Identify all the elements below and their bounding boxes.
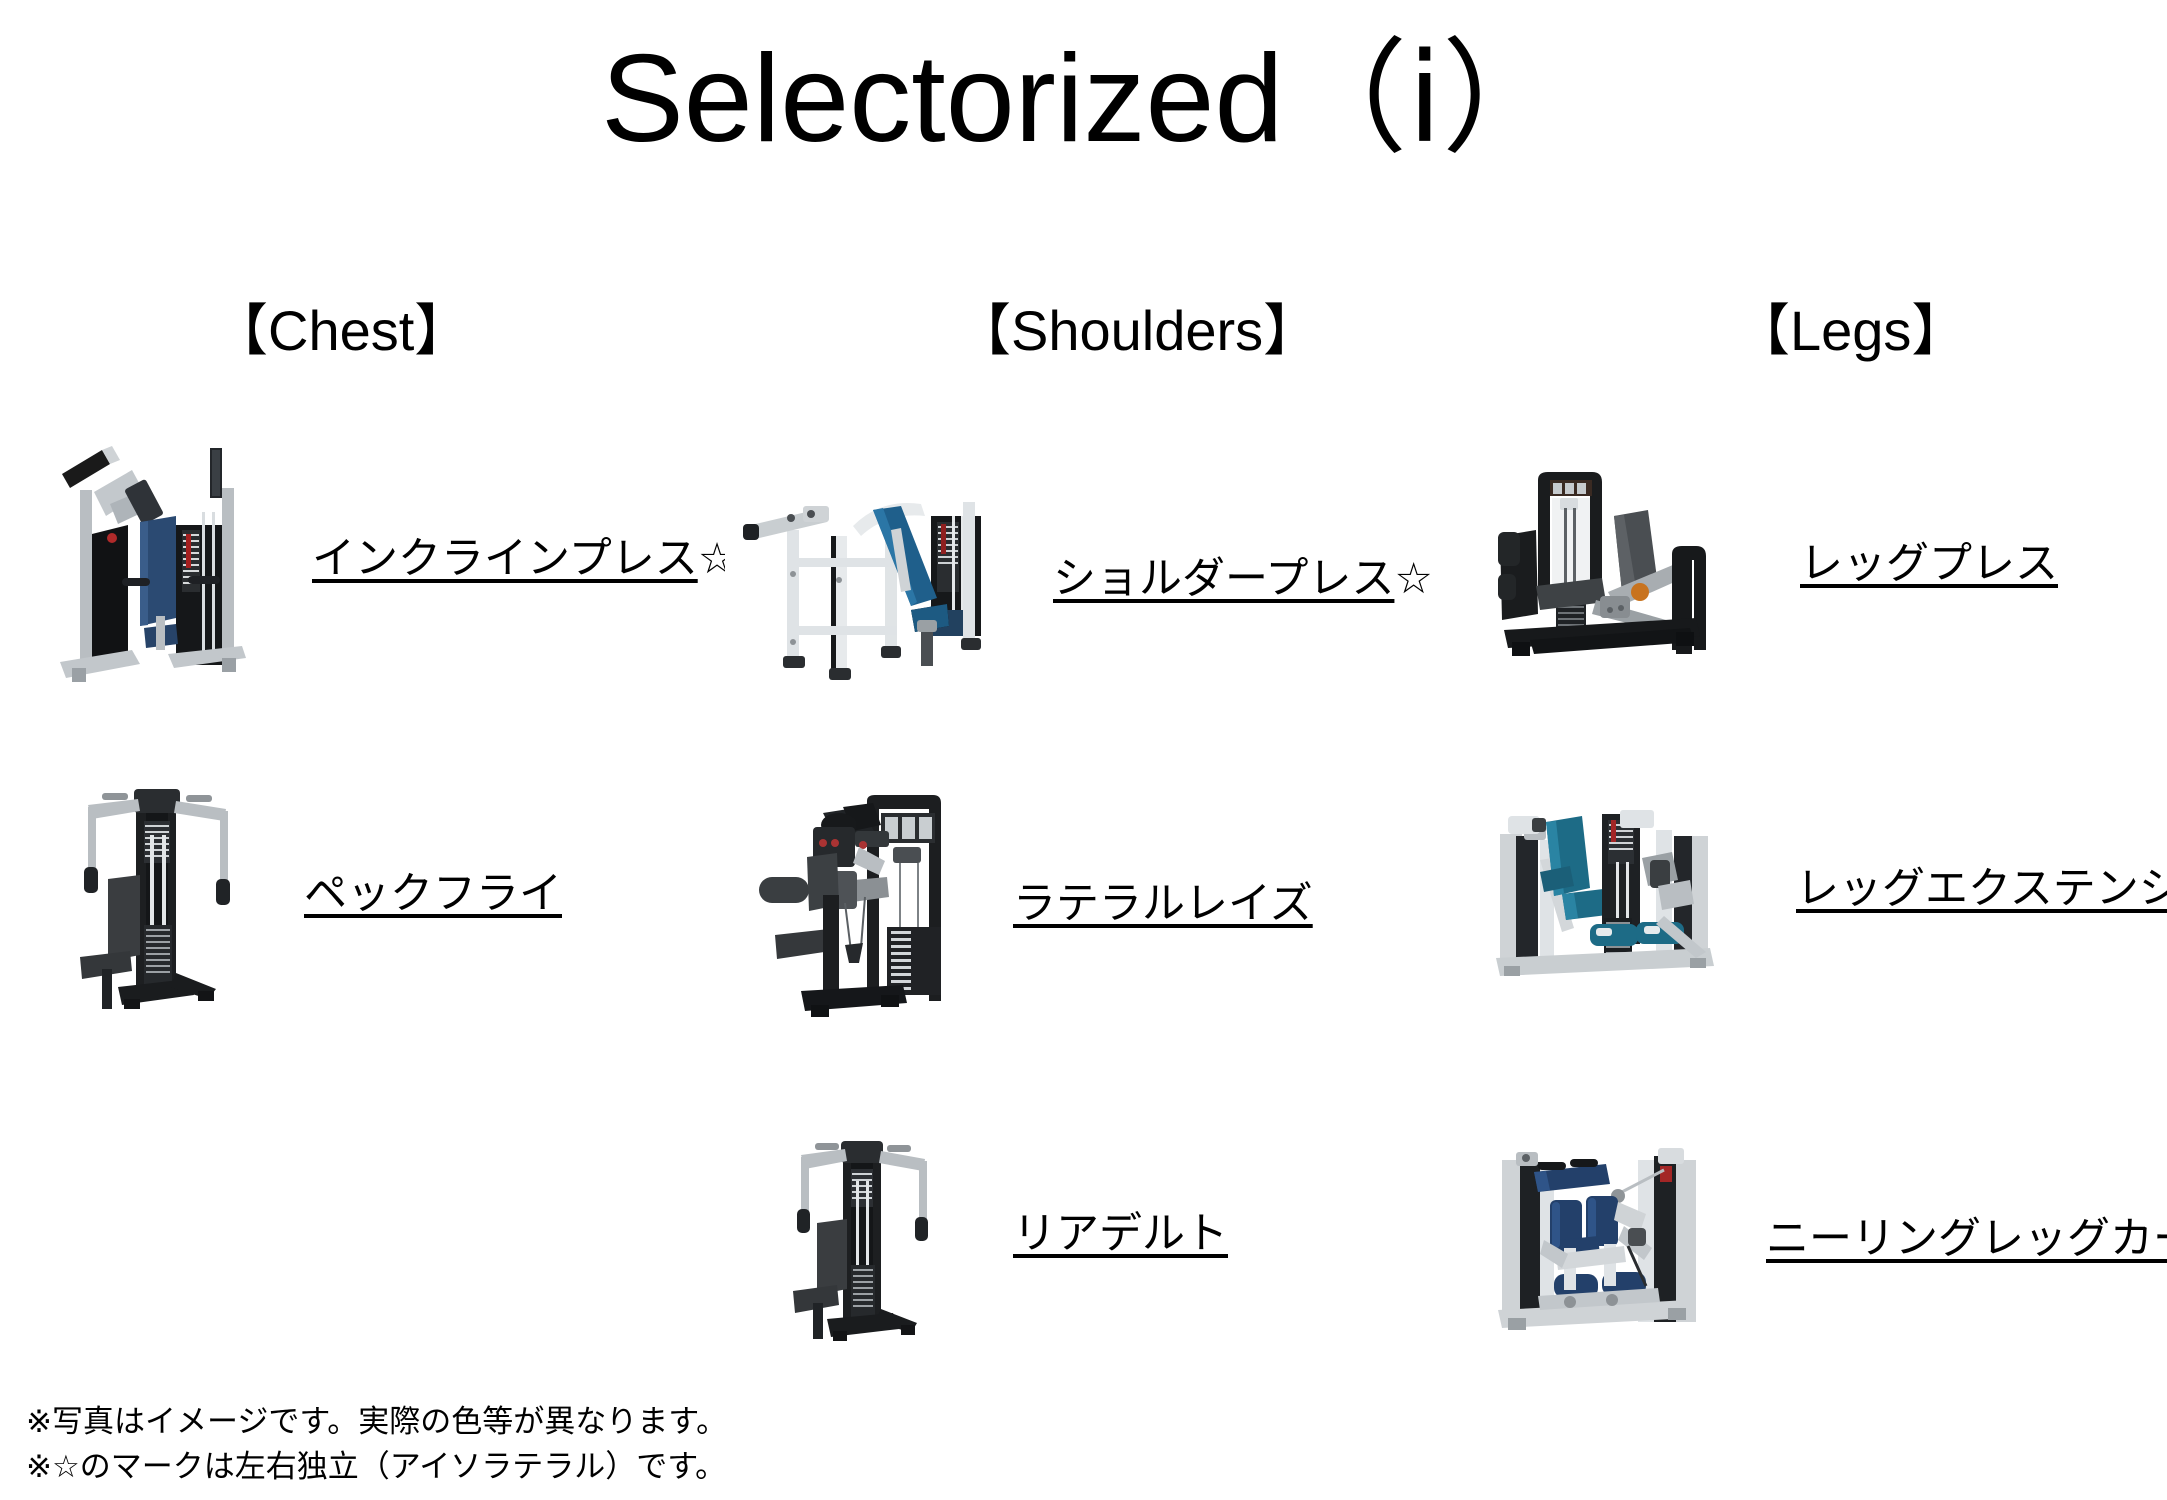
column-header-shoulders: 【Shoulders】 — [955, 300, 1319, 362]
pec-fly-photo — [58, 775, 258, 1015]
item-incline-press: インクラインプレス☆ — [36, 430, 736, 690]
slide-root: Selectorized（ⅰ） 【Chest】 【Shoulders】 【Leg… — [0, 0, 2167, 1500]
rear-delt-label: リアデルト — [1013, 1210, 1228, 1259]
column-header-legs: 【Legs】 — [1734, 300, 1967, 362]
shoulder-press-label-text: ショルダープレス — [1053, 555, 1394, 603]
pec-fly-label-text: ペックフライ — [304, 870, 562, 918]
footnote-photo-disclaimer: ※写真はイメージです。実際の色等が異なります。 — [26, 1400, 727, 1445]
item-leg-press: レッグプレス — [1490, 450, 2058, 680]
shoulder-press-label: ショルダープレス☆ — [1053, 555, 1433, 604]
incline-press-photo — [36, 430, 266, 690]
rear-delt-photo — [775, 1125, 955, 1345]
item-kneeling-leg-curl: ニーリングレッグカール☆ — [1478, 1130, 2167, 1350]
page-title: Selectorized（ⅰ） — [0, 28, 2167, 171]
item-rear-delt: リアデルト — [775, 1125, 1228, 1345]
kneeling-leg-curl-label-text: ニーリングレッグカール — [1766, 1215, 2167, 1263]
lateral-raise-photo — [735, 785, 955, 1025]
item-lateral-raise: ラテラルレイズ — [735, 785, 1313, 1025]
column-header-chest: 【Chest】 — [212, 300, 470, 362]
leg-press-photo — [1490, 450, 1730, 680]
item-shoulder-press: ショルダープレス☆ — [725, 470, 1433, 690]
leg-press-label: レッグプレス — [1800, 540, 2058, 589]
incline-press-label: インクラインプレス☆ — [312, 535, 736, 584]
kneeling-leg-curl-label: ニーリングレッグカール☆ — [1766, 1215, 2167, 1264]
kneeling-leg-curl-photo — [1478, 1130, 1708, 1350]
item-pec-fly: ペックフライ — [58, 775, 562, 1015]
isolateral-star-icon: ☆ — [1394, 555, 1433, 603]
leg-press-label-text: レッグプレス — [1800, 540, 2058, 588]
leg-extension-photo — [1478, 800, 1738, 980]
footnote-star-legend: ※☆のマークは左右独立（アイソラテラル）です。 — [26, 1445, 727, 1490]
incline-press-label-text: インクラインプレス — [312, 535, 698, 583]
item-leg-extension: レッグエクステンション☆ — [1478, 800, 2167, 980]
leg-extension-label: レッグエクステンション☆ — [1796, 865, 2167, 914]
lateral-raise-label: ラテラルレイズ — [1013, 880, 1313, 929]
shoulder-press-photo — [725, 470, 995, 690]
leg-extension-label-text: レッグエクステンション — [1796, 865, 2167, 913]
pec-fly-label: ペックフライ — [304, 870, 562, 919]
footnotes: ※写真はイメージです。実際の色等が異なります。 ※☆のマークは左右独立（アイソラ… — [26, 1400, 727, 1490]
rear-delt-label-text: リアデルト — [1013, 1210, 1228, 1258]
lateral-raise-label-text: ラテラルレイズ — [1013, 880, 1313, 928]
